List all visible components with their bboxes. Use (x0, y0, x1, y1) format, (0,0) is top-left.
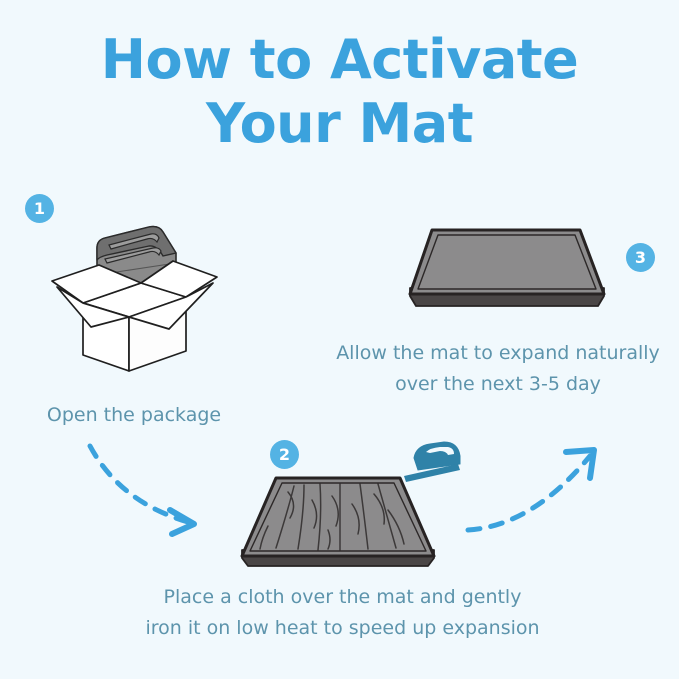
infographic-canvas: How to Activate Your Mat 1 Open the pack… (0, 0, 679, 679)
open-box-illustration (45, 215, 225, 375)
step-caption-1: Open the package (0, 400, 268, 431)
step-badge-3: 3 (626, 243, 655, 272)
title-line-1: How to Activate (0, 28, 679, 92)
flat-mat-illustration (400, 222, 615, 317)
title-line-2: Your Mat (0, 92, 679, 156)
iron-icon (396, 436, 466, 488)
page-title: How to Activate Your Mat (0, 28, 679, 155)
step-caption-3: Allow the mat to expand naturally over t… (318, 338, 678, 400)
arrow-step2-to-step3-icon (462, 440, 612, 540)
arrow-step1-to-step2-icon (80, 440, 230, 540)
step-caption-2: Place a cloth over the mat and gently ir… (110, 582, 575, 644)
step-badge-2: 2 (270, 440, 299, 469)
